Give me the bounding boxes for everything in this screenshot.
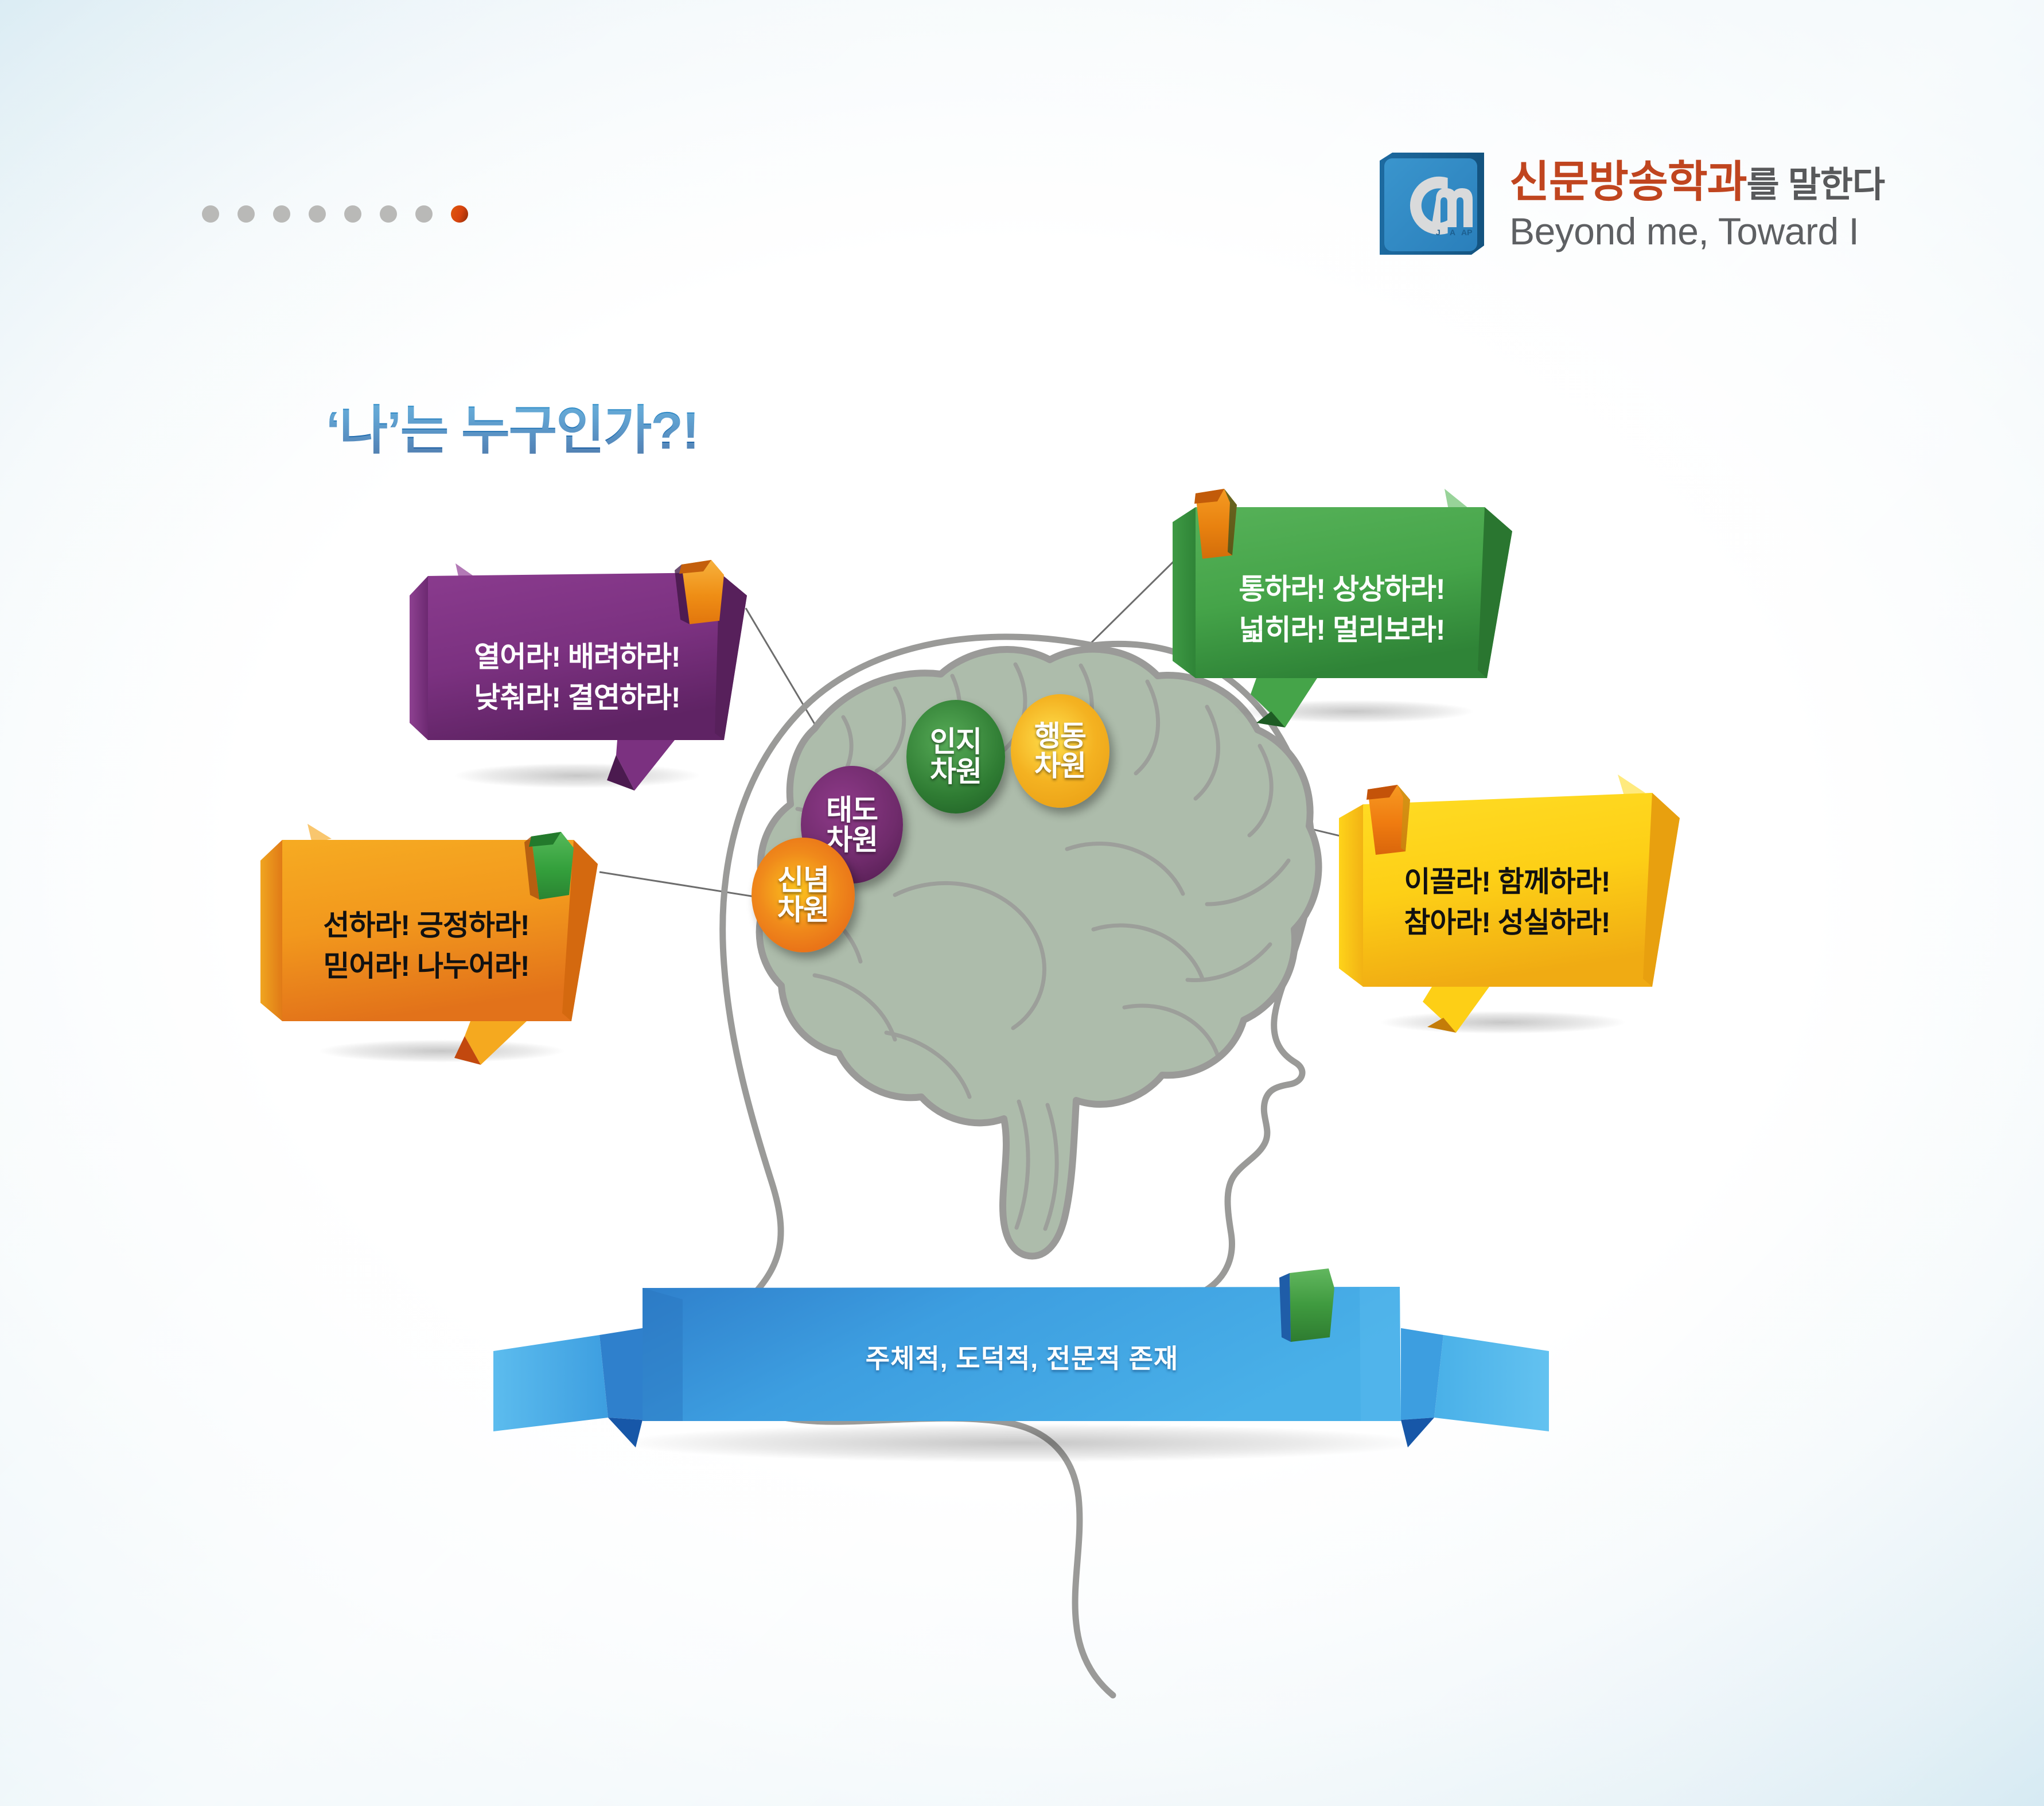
dimension-label-behavior: 행동 차원 — [1034, 721, 1086, 781]
tab-icon — [1290, 1268, 1334, 1342]
callout-attitude[interactable]: 열어라! 배려하라! 낮춰라! 결연하라! — [405, 551, 761, 792]
callout-belief-text: 선하라! 긍정하라! 믿어라! 나누어라! — [280, 905, 573, 987]
dimension-circle-cognitive[interactable]: 인지 차원 — [906, 700, 1005, 814]
dimension-label-belief: 신념 차원 — [777, 865, 829, 925]
callout-cognitive[interactable]: 통하라! 상상하라! 넓히라! 멀리보라! — [1170, 482, 1537, 729]
dimension-circle-belief[interactable]: 신념 차원 — [752, 838, 855, 952]
callout-belief[interactable]: 선하라! 긍정하라! 믿어라! 나누어라! — [252, 803, 625, 1067]
dimension-label-cognitive: 인지 차원 — [930, 727, 982, 787]
callout-behavior-text: 이끌라! 함께하라! 참아라! 성실하라! — [1361, 862, 1653, 943]
dimension-label-attitude: 태도 차원 — [826, 795, 878, 855]
callout-attitude-text: 열어라! 배려하라! 낮춰라! 결연하라! — [428, 637, 726, 718]
bottom-banner[interactable] — [476, 1265, 1566, 1472]
callout-cognitive-text: 통하라! 상상하라! 넓히라! 멀리보라! — [1196, 569, 1488, 651]
callout-behavior[interactable]: 이끌라! 함께하라! 참아라! 성실하라! — [1331, 763, 1710, 1038]
dimension-circle-behavior[interactable]: 행동 차원 — [1011, 694, 1109, 808]
